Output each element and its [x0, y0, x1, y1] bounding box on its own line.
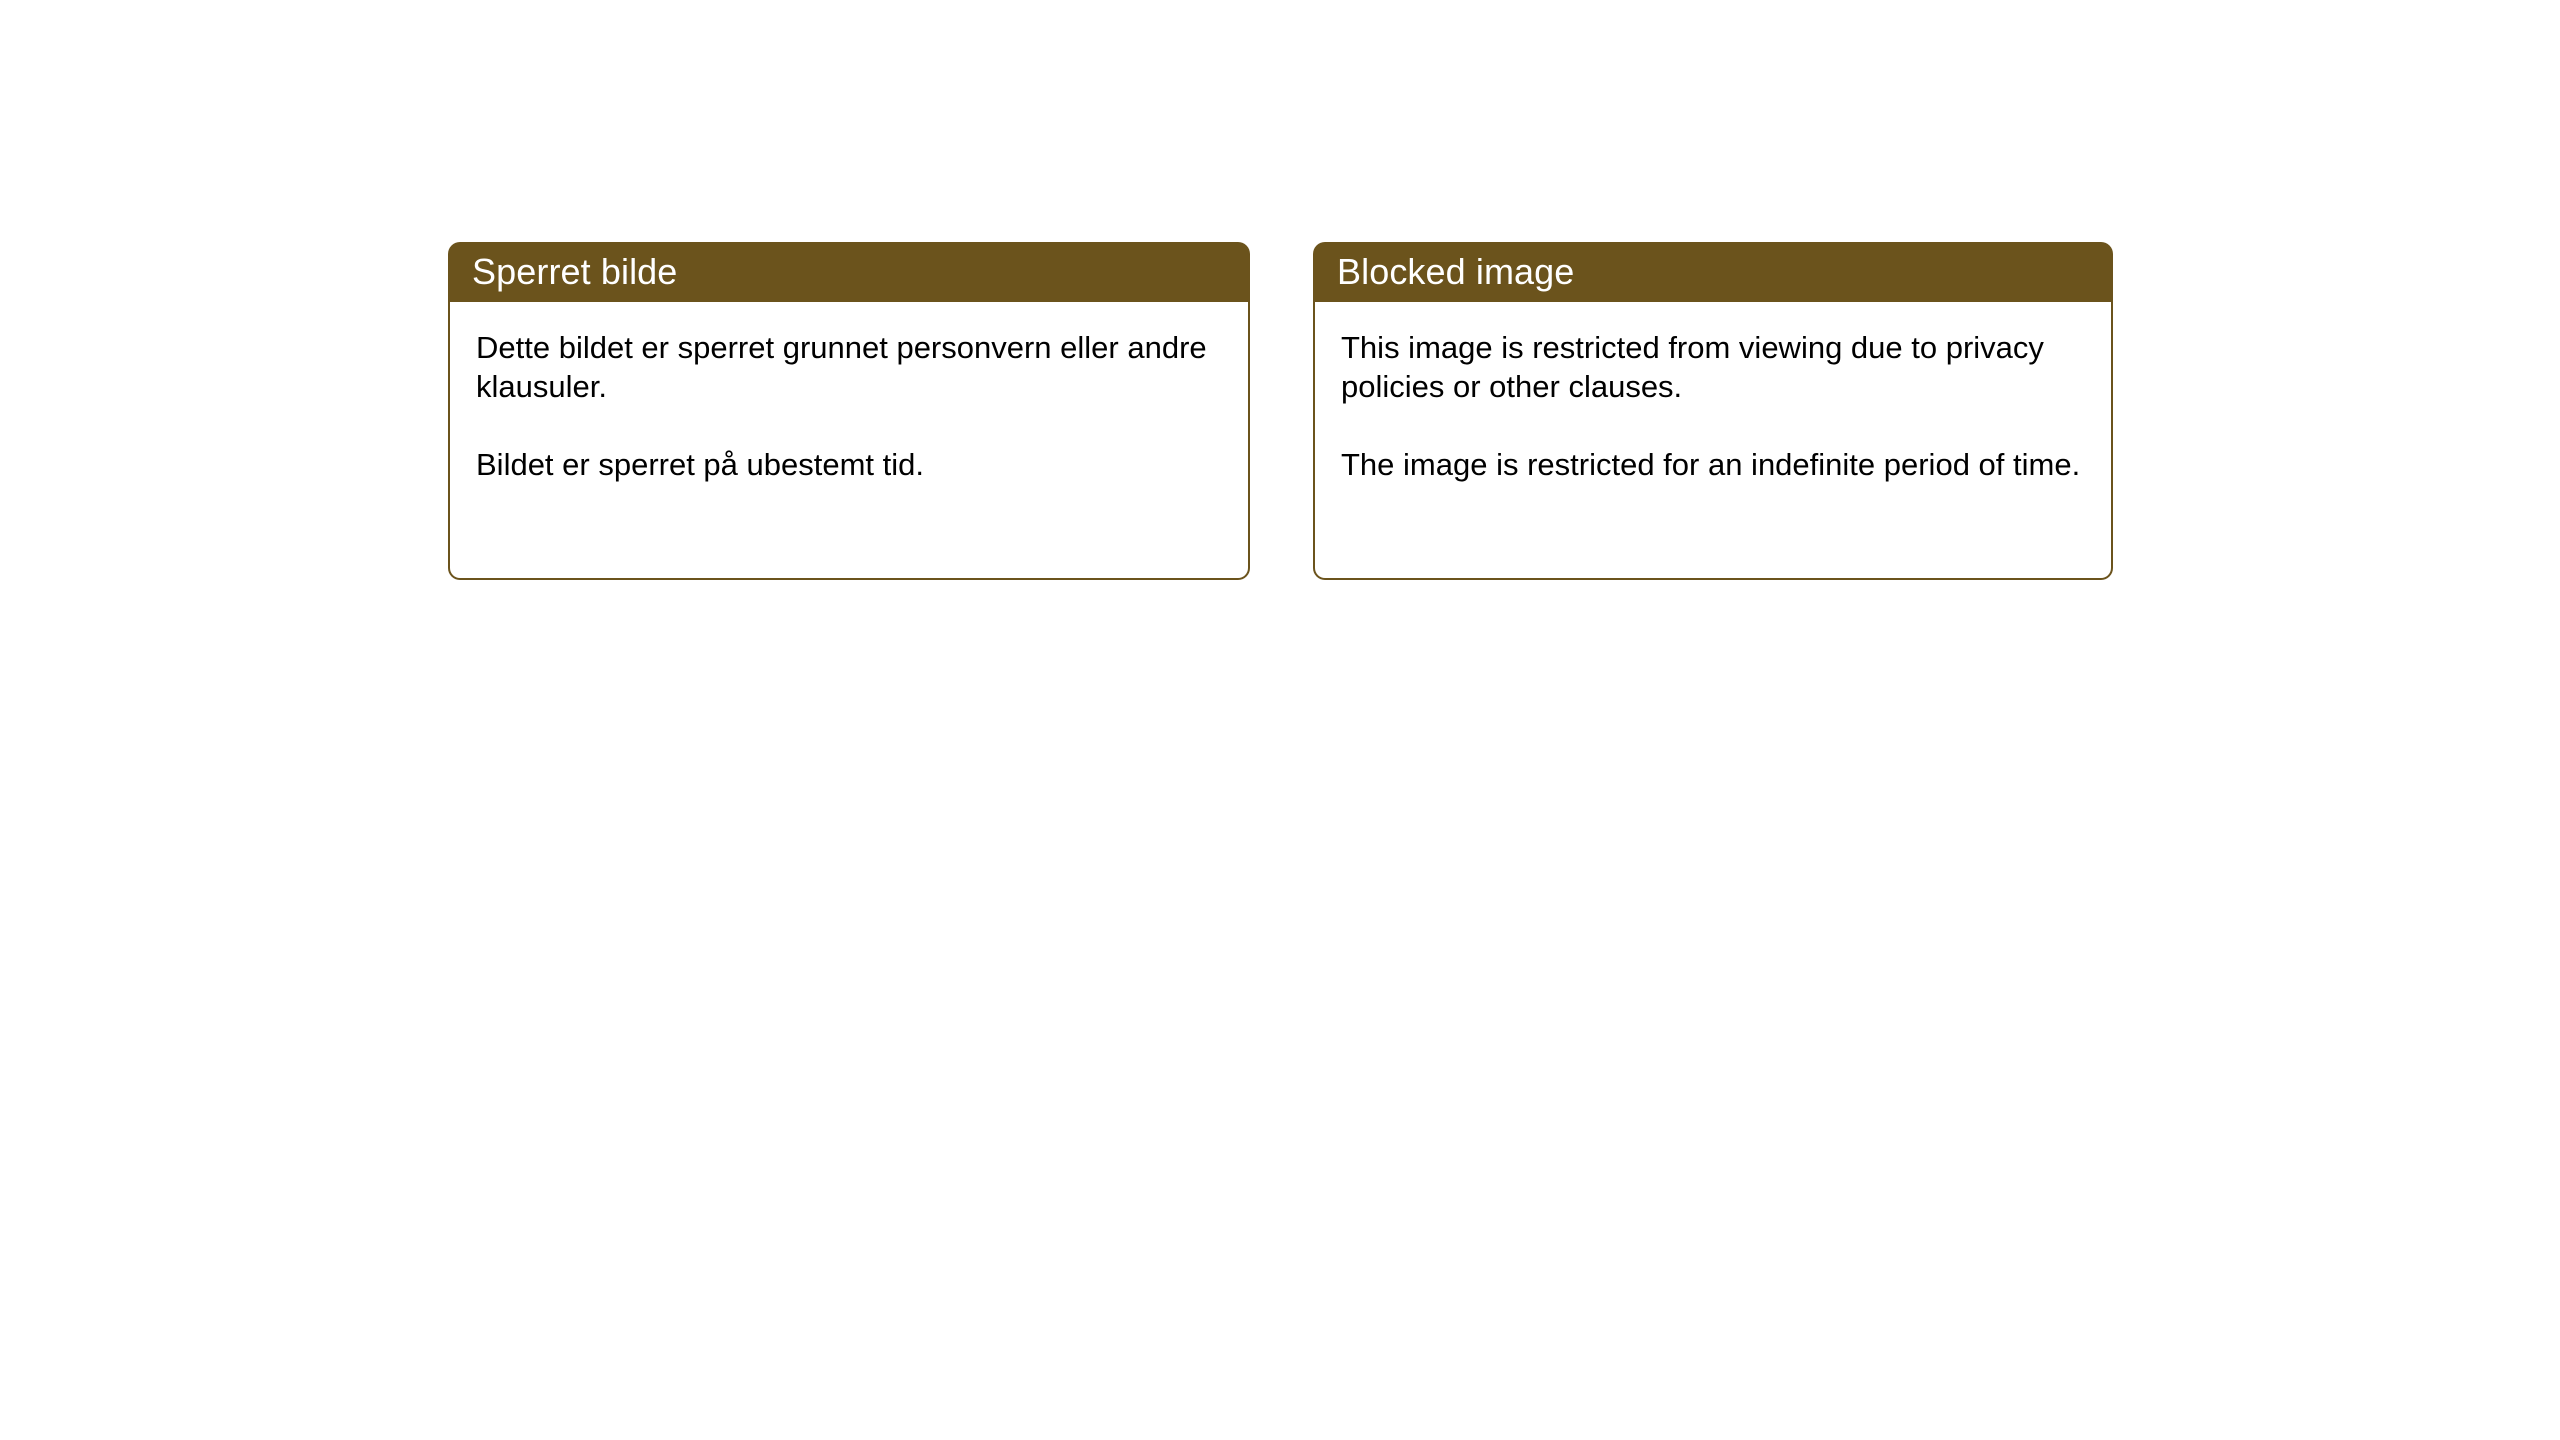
- card-title-norwegian: Sperret bilde: [472, 252, 677, 292]
- card-paragraph-reason-english: This image is restricted from viewing du…: [1341, 328, 2083, 406]
- card-header-english: Blocked image: [1313, 242, 2113, 302]
- card-paragraph-duration-norwegian: Bildet er sperret på ubestemt tid.: [476, 445, 1220, 484]
- card-body-norwegian: Dette bildet er sperret grunnet personve…: [448, 302, 1250, 580]
- card-paragraph-reason-norwegian: Dette bildet er sperret grunnet personve…: [476, 328, 1220, 406]
- blocked-image-notice-area: Sperret bilde Dette bildet er sperret gr…: [448, 242, 2120, 582]
- blocked-image-card-english: Blocked image This image is restricted f…: [1313, 242, 2113, 580]
- card-paragraph-duration-english: The image is restricted for an indefinit…: [1341, 445, 2083, 484]
- card-title-english: Blocked image: [1337, 252, 1574, 292]
- blocked-image-card-norwegian: Sperret bilde Dette bildet er sperret gr…: [448, 242, 1250, 580]
- card-header-norwegian: Sperret bilde: [448, 242, 1250, 302]
- card-body-english: This image is restricted from viewing du…: [1313, 302, 2113, 580]
